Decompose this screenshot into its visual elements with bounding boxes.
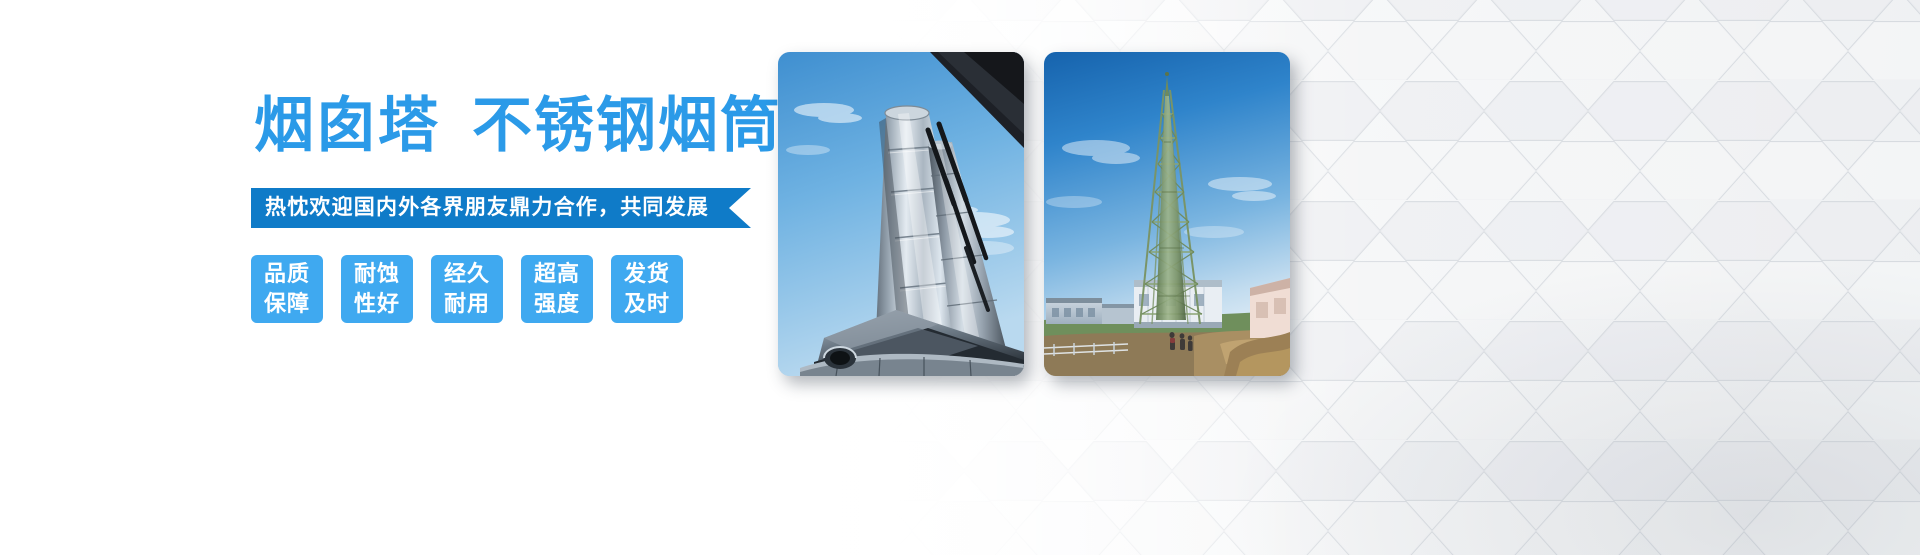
page-title: 烟囱塔不锈钢烟筒 [254, 92, 782, 160]
lattice-tower-image [1044, 52, 1290, 376]
title-part-2: 不锈钢烟筒 [472, 91, 782, 161]
feature-badge-list: 品质 保障 耐蚀 性好 经久 耐用 超高 强度 发货 及时 [251, 255, 683, 323]
feature-badge[interactable]: 经久 耐用 [431, 255, 503, 323]
badge-line-2: 及时 [624, 289, 670, 319]
product-photo-lattice-tower[interactable] [1044, 52, 1290, 376]
badge-line-1: 超高 [534, 259, 580, 289]
badge-line-2: 强度 [534, 289, 580, 319]
badge-line-1: 品质 [264, 259, 310, 289]
slogan-ribbon: 热忱欢迎国内外各界朋友鼎力合作，共同发展 [251, 188, 751, 228]
badge-line-2: 耐用 [444, 289, 490, 319]
product-photo-chimney-stacks[interactable] [778, 52, 1024, 376]
feature-badge[interactable]: 品质 保障 [251, 255, 323, 323]
title-part-1: 烟囱塔 [254, 91, 440, 161]
badge-line-2: 保障 [264, 289, 310, 319]
badge-line-1: 经久 [444, 259, 490, 289]
headline-block: 烟囱塔不锈钢烟筒 热忱欢迎国内外各界朋友鼎力合作，共同发展 品质 保障 耐蚀 性… [0, 0, 780, 555]
promo-banner: 烟囱塔不锈钢烟筒 热忱欢迎国内外各界朋友鼎力合作，共同发展 品质 保障 耐蚀 性… [0, 0, 1920, 555]
feature-badge[interactable]: 发货 及时 [611, 255, 683, 323]
chimney-stacks-image [778, 52, 1024, 376]
feature-badge[interactable]: 耐蚀 性好 [341, 255, 413, 323]
badge-line-1: 耐蚀 [354, 259, 400, 289]
badge-line-1: 发货 [624, 259, 670, 289]
feature-badge[interactable]: 超高 强度 [521, 255, 593, 323]
badge-line-2: 性好 [354, 289, 400, 319]
